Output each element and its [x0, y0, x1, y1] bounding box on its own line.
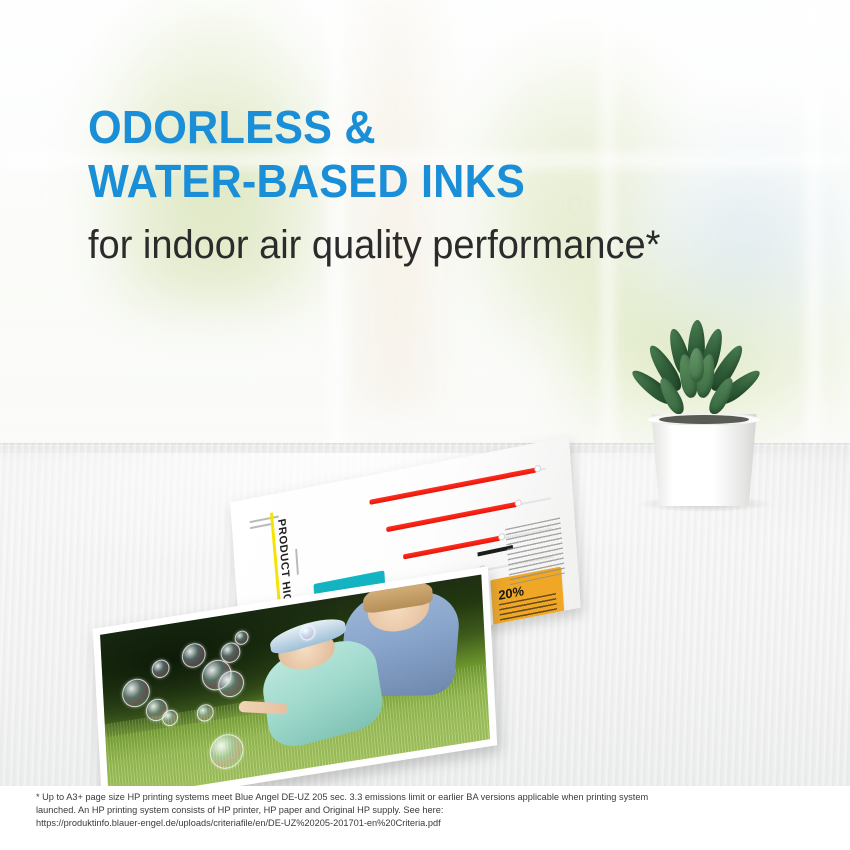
headline-line-1: ODORLESS & [88, 100, 765, 154]
bar-red-1 [369, 467, 536, 504]
plant-pot-soil [659, 415, 749, 424]
headline-subtitle: for indoor air quality performance* [88, 222, 772, 268]
bar-endpoint-dot [498, 533, 505, 541]
succulent-leaf [689, 348, 704, 382]
headline-line-2: WATER-BASED INKS [88, 154, 765, 208]
plant-pot [648, 414, 760, 506]
bar-endpoint-dot [534, 464, 541, 472]
bar-red-2 [386, 502, 517, 532]
brochure-kicker-line [295, 549, 299, 576]
hp-odorless-inks-banner: ODORLESS & WATER-BASED INKS for indoor a… [0, 0, 850, 850]
succulent-plant [628, 318, 788, 508]
bar-endpoint-dot [515, 499, 522, 507]
brochure-side-copy [505, 517, 565, 585]
headline-block: ODORLESS & WATER-BASED INKS for indoor a… [88, 100, 808, 268]
footnote-line-2: launched. An HP printing system consists… [36, 804, 802, 817]
footnote-block: * Up to A3+ page size HP printing system… [36, 791, 802, 830]
footnote-line-3: https://produktinfo.blauer-engel.de/uplo… [36, 817, 802, 830]
bar-red-3 [403, 536, 501, 560]
brochure-meta-line [250, 523, 272, 529]
footnote-line-1: * Up to A3+ page size HP printing system… [36, 791, 802, 804]
